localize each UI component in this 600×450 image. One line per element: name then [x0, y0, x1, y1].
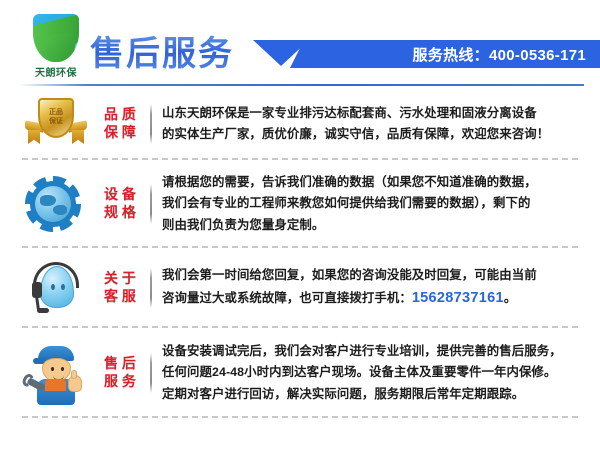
section-quality: 正品 保证 品 质 保 障 山东天朗环保是一家专业排污达标配套商、污水处理和固液… [0, 88, 600, 160]
label-line-1: 售 后 [104, 355, 136, 373]
gear-globe-icon [25, 176, 91, 232]
text-line: 的实体生产厂家，质优价廉，诚实守信，品质有保障，欢迎您来咨询！ [162, 124, 584, 145]
company-logo: 天朗环保 [22, 14, 90, 80]
text-line: 则由我们负责为您量身定制。 [162, 215, 584, 236]
logo-company-name: 天朗环保 [35, 64, 77, 79]
label-line-2: 服 务 [104, 373, 136, 391]
text-line: 我们会有专业的工程师来教您如何提供给我们需要的数据），剩下的 [162, 193, 584, 214]
label-line-2: 客 服 [104, 288, 136, 306]
hotline-text: 服务热线：400-0536-171 [412, 44, 586, 65]
label-separator [150, 184, 152, 224]
spec-icon-cell [18, 160, 98, 248]
section-divider [22, 416, 578, 418]
section-label-after-sales: 售 后 服 务 [98, 355, 142, 391]
label-separator [150, 268, 152, 308]
badge-text-top: 正品 [49, 109, 63, 118]
page-title: 售后服务 [90, 26, 234, 75]
text-line: 我们会第一时间给您回复，如果您的咨询没能及时回复，可能由当前 [162, 265, 584, 286]
quality-shield-badge-icon: 正品 保证 [25, 96, 91, 152]
section-text-quality: 山东天朗环保是一家专业排污达标配套商、污水处理和固液分离设备 的实体生产厂家，质… [162, 103, 584, 146]
label-line-2: 规 格 [104, 204, 136, 222]
worker-thumbsup-mascot-icon [25, 345, 91, 401]
section-text-after-sales: 设备安装调试完后，我们会对客户进行专业培训，提供完善的售后服务， 任何问题24-… [162, 341, 584, 405]
page-header: 天朗环保 售后服务 服务热线：400-0536-171 [0, 0, 600, 88]
text-line-with-phone: 咨询量过大或系统故障，也可直接拨打手机：15628737161。 [162, 286, 584, 311]
after-sales-icon-cell [18, 328, 98, 418]
text-line: 设备安装调试完后，我们会对客户进行专业培训，提供完善的售后服务， [162, 341, 584, 362]
label-separator [150, 353, 152, 393]
section-text-spec: 请根据您的需要，告诉我们准确的数据（如果您不知道准确的数据， 我们会有专业的工程… [162, 172, 584, 236]
label-line-2: 保 障 [104, 124, 136, 142]
section-spec: 设 备 规 格 请根据您的需要，告诉我们准确的数据（如果您不知道准确的数据， 我… [0, 160, 600, 248]
service-sections: 正品 保证 品 质 保 障 山东天朗环保是一家专业排污达标配套商、污水处理和固液… [0, 88, 600, 418]
section-label-quality: 品 质 保 障 [98, 106, 142, 142]
hotline-banner: 服务热线：400-0536-171 [290, 40, 600, 68]
header-divider [18, 84, 584, 86]
mobile-number[interactable]: 15628737161 [412, 290, 504, 306]
section-after-sales: 售 后 服 务 设备安装调试完后，我们会对客户进行专业培训，提供完善的售后服务，… [0, 328, 600, 418]
badge-text-bottom: 保证 [49, 118, 63, 127]
label-separator [150, 104, 152, 144]
text-line: 请根据您的需要，告诉我们准确的数据（如果您不知道准确的数据， [162, 172, 584, 193]
shield-leaf-logo-icon [33, 14, 79, 62]
section-label-service: 关 于 客 服 [98, 270, 142, 306]
section-customer-service: 关 于 客 服 我们会第一时间给您回复，如果您的咨询没能及时回复，可能由当前 咨… [0, 248, 600, 328]
label-line-1: 设 备 [104, 186, 136, 204]
service-icon-cell [18, 248, 98, 328]
quality-icon-cell: 正品 保证 [18, 88, 98, 160]
text-line: 咨询量过大或系统故障，也可直接拨打手机： [162, 291, 412, 305]
label-line-1: 品 质 [104, 106, 136, 124]
headset-droplet-mascot-icon [25, 260, 91, 316]
label-line-1: 关 于 [104, 270, 136, 288]
section-text-service: 我们会第一时间给您回复，如果您的咨询没能及时回复，可能由当前 咨询量过大或系统故… [162, 265, 584, 311]
mobile-suffix: 。 [504, 291, 517, 305]
section-label-spec: 设 备 规 格 [98, 186, 142, 222]
text-line: 定期对客户进行回访，解决实际问题，服务期限后常年定期跟踪。 [162, 384, 584, 405]
text-line: 任何问题24-48小时内到达客户现场。设备主体及重要零件一年内保修。 [162, 362, 584, 383]
text-line: 山东天朗环保是一家专业排污达标配套商、污水处理和固液分离设备 [162, 103, 584, 124]
